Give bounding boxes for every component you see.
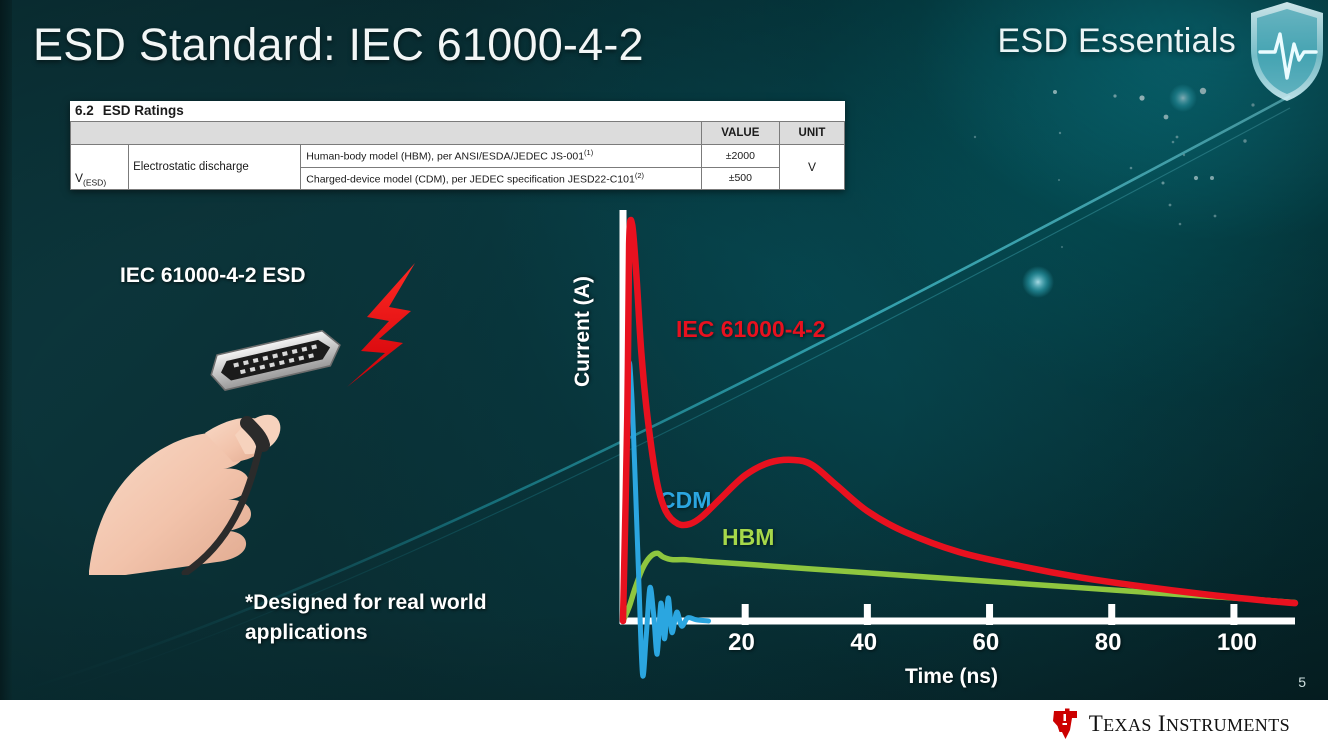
table-row: V(ESD) Electrostatic discharge Human-bod…: [71, 145, 845, 168]
header-blank-cell: [71, 122, 702, 145]
esd-ratings-table-card: 6.2ESD Ratings VALUE UNIT V(ESD) Electro…: [70, 101, 845, 190]
x-tick-label: 80: [1095, 629, 1122, 657]
section-number: 6.2: [75, 103, 94, 118]
brand-label: ESD Essentials: [997, 22, 1236, 61]
row-value-hbm: ±2000: [701, 145, 779, 168]
hand-holding-cable-icon: [85, 255, 445, 575]
company-name: TEXAS INSTRUMENTS: [1089, 711, 1290, 737]
x-tick-label: 20: [728, 629, 755, 657]
curve-hbm: [623, 553, 1295, 621]
footnote-marker: (2): [635, 171, 644, 180]
page-title: ESD Standard: IEC 61000-4-2: [33, 19, 644, 71]
symbol-main: V: [75, 171, 83, 185]
esd-ratings-table: VALUE UNIT V(ESD) Electrostatic discharg…: [70, 121, 845, 190]
texas-state-logo-icon: [1050, 708, 1080, 740]
header-unit: UNIT: [779, 122, 844, 145]
illustration-note: *Designed for real world applications: [245, 588, 555, 648]
parameter-symbol: V(ESD): [71, 145, 129, 190]
shield-heartbeat-icon: [1248, 0, 1326, 104]
slide-ESD-standard: ESD Standard: IEC 61000-4-2 ESD Essentia…: [0, 0, 1328, 746]
x-tick-label: 60: [973, 629, 1000, 657]
section-title: ESD Ratings: [103, 103, 184, 118]
chart-curves: [623, 220, 1295, 676]
table-section-heading: 6.2ESD Ratings: [70, 101, 845, 121]
parameter-name: Electrostatic discharge: [129, 145, 301, 190]
table-header-row: VALUE UNIT: [71, 122, 845, 145]
symbol-subscript: (ESD): [83, 177, 106, 187]
texas-instruments-logo-icon: TEXAS INSTRUMENTS: [1050, 708, 1290, 740]
esd-waveform-chart: [565, 200, 1310, 700]
lightning-bolt-icon: [347, 263, 415, 387]
row-description-cdm: Charged-device model (CDM), per JEDEC sp…: [301, 167, 702, 190]
description-text: Charged-device model (CDM), per JEDEC sp…: [306, 173, 635, 185]
row-value-cdm: ±500: [701, 167, 779, 190]
unit-cell: V: [779, 145, 844, 190]
x-tick-label: 40: [850, 629, 877, 657]
header-value: VALUE: [701, 122, 779, 145]
x-tick-label: 100: [1217, 629, 1257, 657]
row-description-hbm: Human-body model (HBM), per ANSI/ESDA/JE…: [301, 145, 702, 168]
description-text: Human-body model (HBM), per ANSI/ESDA/JE…: [306, 151, 584, 163]
slide-number: 5: [1298, 674, 1306, 690]
slide-footer: TEXAS INSTRUMENTS: [0, 700, 1328, 746]
footnote-marker: (1): [584, 148, 593, 157]
